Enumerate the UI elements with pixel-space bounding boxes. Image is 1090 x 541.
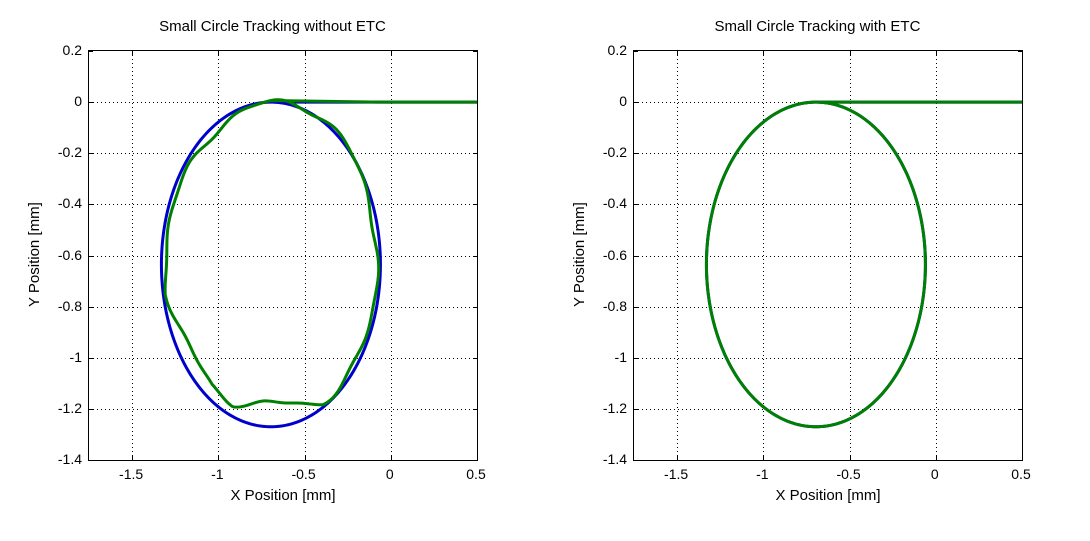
- series-reference: [706, 102, 1022, 427]
- x-axis-tick-label: -0.5: [836, 466, 860, 482]
- x-axis-tick-label: 0.5: [466, 466, 485, 482]
- x-axis-tick-label: -1: [211, 466, 223, 482]
- y-axis-tick-label: -1: [36, 349, 82, 365]
- series-measured: [165, 100, 477, 407]
- y-axis-tick: [473, 460, 478, 461]
- y-axis-tick-label: -0.2: [36, 144, 82, 160]
- y-axis-tick-label: -0.4: [581, 195, 627, 211]
- plot-area-left: [88, 50, 478, 461]
- series-measured: [706, 102, 1022, 427]
- y-axis-tick-label: -1.2: [581, 400, 627, 416]
- x-axis-tick-label: 0.5: [1011, 466, 1030, 482]
- y-axis-tick-label: 0: [36, 93, 82, 109]
- y-axis-tick-label: 0.2: [36, 42, 82, 58]
- y-axis-tick-label: -0.6: [36, 247, 82, 263]
- chart-title-left: Small Circle Tracking without ETC: [0, 18, 545, 35]
- y-axis-tick-label: 0: [581, 93, 627, 109]
- y-axis-tick-label: -0.8: [36, 298, 82, 314]
- y-axis-tick-label: -1.2: [36, 400, 82, 416]
- x-axis-tick-label: 0: [386, 466, 394, 482]
- chart-panel-with-etc: Small Circle Tracking with ETC Y Positio…: [545, 0, 1090, 541]
- y-axis-tick: [633, 460, 638, 461]
- x-axis-tick-label: -1: [756, 466, 768, 482]
- y-axis-tick-label: -0.6: [581, 247, 627, 263]
- data-curves: [89, 51, 477, 460]
- figure: Small Circle Tracking without ETC Y Posi…: [0, 0, 1090, 541]
- y-axis-tick: [88, 460, 93, 461]
- data-curves: [634, 51, 1022, 460]
- y-axis-tick-label: -0.4: [36, 195, 82, 211]
- x-axis-tick-label: -1.5: [664, 466, 688, 482]
- x-axis-title-left: X Position [mm]: [88, 487, 478, 504]
- y-axis-tick-label: -1.4: [581, 451, 627, 467]
- chart-panel-without-etc: Small Circle Tracking without ETC Y Posi…: [0, 0, 545, 541]
- plot-area-right: [633, 50, 1023, 461]
- y-axis-tick-label: -1: [581, 349, 627, 365]
- x-axis-tick-label: 0: [931, 466, 939, 482]
- chart-title-right: Small Circle Tracking with ETC: [545, 18, 1090, 35]
- y-axis-tick-label: 0.2: [581, 42, 627, 58]
- y-axis-tick: [1018, 460, 1023, 461]
- y-axis-tick-label: -1.4: [36, 451, 82, 467]
- y-axis-tick-label: -0.8: [581, 298, 627, 314]
- y-axis-tick-label: -0.2: [581, 144, 627, 160]
- x-axis-title-right: X Position [mm]: [633, 487, 1023, 504]
- x-axis-tick-label: -1.5: [119, 466, 143, 482]
- x-axis-tick-label: -0.5: [291, 466, 315, 482]
